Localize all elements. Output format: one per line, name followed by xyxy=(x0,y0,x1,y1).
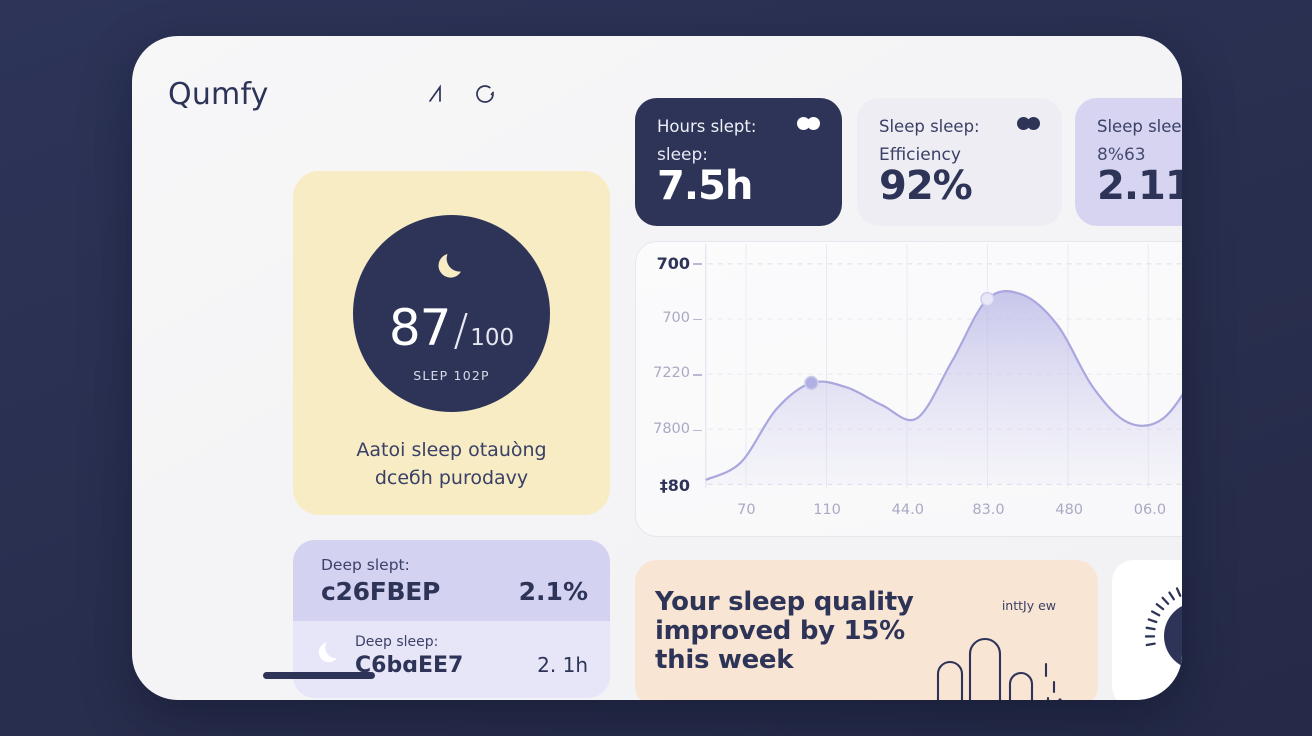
score-subtitle: SLEP 102P xyxy=(413,368,490,383)
deep-sleep-value: 2.1% xyxy=(519,577,588,606)
deep-sleep-values: c26FBEP 2.1% xyxy=(321,577,588,606)
score-caption: Aatoi sleep otauòng dceбh purodavy xyxy=(356,436,546,492)
ray-tick xyxy=(1147,628,1155,629)
insight-banner[interactable]: Your sleep quality improved by 15% this … xyxy=(635,560,1098,700)
stat-card-title: Sleep sleep: xyxy=(1097,117,1182,136)
insight-headline-line-2: improved by 15% xyxy=(655,617,913,646)
deep-sleep-row-secondary[interactable]: Deep sleep: C6bɑEE7 2. 1h xyxy=(293,621,610,698)
chart-y-tick: 7800 xyxy=(644,421,690,437)
score-caption-line-1: Aatoi sleep otauòng xyxy=(356,436,546,464)
chart-y-tick: ‡80 xyxy=(644,476,690,495)
stat-card-sleep-duration[interactable]: Sleep sleep: 8%63 2.11h xyxy=(1075,98,1182,226)
sleep-score-circle: 87 / 100 SLEP 102P xyxy=(353,215,550,412)
crescent-moon-icon xyxy=(430,244,474,293)
chart-y-tick: 700 xyxy=(644,254,690,273)
stat-card-efficiency[interactable]: Sleep sleep: Efficiency 92% xyxy=(857,98,1062,226)
stat-card-title: Hours slept: xyxy=(657,117,756,136)
stat-card-header: Hours slept: xyxy=(657,117,820,136)
device-frame: Qumfy xyxy=(132,36,1182,700)
stat-card-value: 92% xyxy=(879,163,1040,209)
arches-art-svg xyxy=(928,612,1068,700)
score-value-row: 87 / 100 xyxy=(389,299,514,357)
score-denominator: 100 xyxy=(470,325,514,351)
eye-right xyxy=(807,117,820,130)
ray-tick xyxy=(1149,619,1157,622)
stat-card-subtitle: Efficiency xyxy=(879,145,1040,165)
deep-sleep-value-2: 2. 1h xyxy=(537,653,588,677)
mood-indicator-card[interactable] xyxy=(1112,560,1182,700)
chart-plot-area[interactable] xyxy=(636,242,1182,536)
stat-card-subtitle: sleep: xyxy=(657,145,820,165)
home-indicator[interactable] xyxy=(263,672,375,679)
app-brand-logo: Qumfy xyxy=(168,77,269,112)
chart-data-point[interactable] xyxy=(805,376,818,389)
chart-y-tick-mark xyxy=(693,263,702,265)
insight-art-label: inttJy ew xyxy=(1002,598,1056,613)
ray-tick xyxy=(1177,588,1180,595)
chart-x-tick: 06.0 xyxy=(1134,502,1166,518)
chart-y-tick-mark xyxy=(693,319,702,321)
chart-x-tick: 110 xyxy=(813,502,841,518)
screen-background: Qumfy xyxy=(0,0,1312,736)
chart-y-tick-mark xyxy=(693,430,702,432)
score-number: 87 xyxy=(389,299,451,357)
eyes-icon xyxy=(1017,117,1040,130)
crescent-moon-icon xyxy=(315,634,345,673)
stat-card-header: Sleep sleep: xyxy=(1097,117,1182,136)
sleep-trend-chart-card[interactable]: 70070072207800‡80 7011044.083.048006.070… xyxy=(635,241,1182,537)
ray-tick xyxy=(1157,604,1163,609)
insight-headline-line-3: this week xyxy=(655,646,913,675)
score-caption-line-2: dceбh purodavy xyxy=(356,464,546,492)
insight-headline-line-1: Your sleep quality xyxy=(655,588,913,617)
chart-y-tick: 7220 xyxy=(644,365,690,381)
deep-sleep-values-2: C6bɑEE7 2. 1h xyxy=(355,653,588,678)
sleeping-face-star-icon xyxy=(1134,572,1182,696)
mood-face-circle xyxy=(1164,602,1182,670)
chart-x-tick: 83.0 xyxy=(972,502,1004,518)
chart-area-fill xyxy=(706,291,1182,484)
chart-y-tick: 700 xyxy=(644,310,690,326)
deep-sleep-label-2: Deep sleep: xyxy=(355,634,588,650)
stat-card-title: Sleep sleep: xyxy=(879,117,980,136)
arches-bar-art: inttJy ew xyxy=(932,588,1072,700)
deep-sleep-label: Deep slept: xyxy=(321,556,588,574)
sleep-score-card[interactable]: 87 / 100 SLEP 102P Aatoi sleep otauòng d… xyxy=(293,171,610,515)
eye-right xyxy=(1027,117,1040,130)
stat-card-hours-slept[interactable]: Hours slept: sleep: 7.5h xyxy=(635,98,842,226)
stat-card-value: 2.11h xyxy=(1097,163,1182,209)
stat-card-value: 7.5h xyxy=(657,163,820,209)
stat-card-subtitle: 8%63 xyxy=(1097,145,1182,165)
chart-x-tick: 480 xyxy=(1055,502,1083,518)
app-header: Qumfy xyxy=(168,70,498,118)
ray-tick xyxy=(1169,593,1173,600)
ray-tick xyxy=(1147,644,1155,645)
refresh-circle-icon[interactable] xyxy=(472,81,498,107)
chart-y-tick-mark xyxy=(693,374,702,376)
deep-sleep-code: c26FBEP xyxy=(321,577,440,606)
header-icon-group xyxy=(426,81,498,107)
stat-card-header: Sleep sleep: xyxy=(879,117,1040,136)
eyes-icon xyxy=(797,117,820,130)
chart-x-tick: 44.0 xyxy=(892,502,924,518)
chart-x-tick: 70 xyxy=(737,502,755,518)
chart-data-point[interactable] xyxy=(981,293,994,306)
deep-sleep-secondary-text: Deep sleep: C6bɑEE7 2. 1h xyxy=(355,634,588,678)
deep-sleep-row-primary[interactable]: Deep slept: c26FBEP 2.1% xyxy=(293,540,610,621)
ray-tick xyxy=(1163,598,1168,604)
insight-headline: Your sleep quality improved by 15% this … xyxy=(655,588,913,700)
ray-tick xyxy=(1152,612,1159,616)
caret-up-icon[interactable] xyxy=(426,81,452,107)
score-separator: / xyxy=(453,305,468,356)
